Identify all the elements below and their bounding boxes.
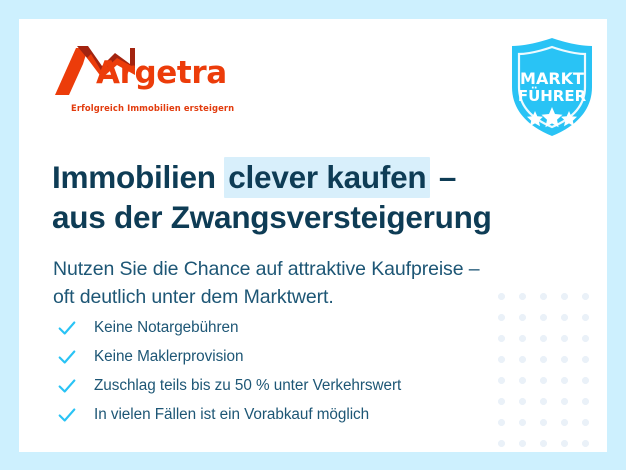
status-badge: MARKT FÜHRER <box>500 35 604 139</box>
check-icon <box>56 375 78 397</box>
benefit-label: Keine Maklerprovision <box>94 349 243 364</box>
list-item: Keine Maklerprovision <box>56 342 526 371</box>
benefit-label: In vielen Fällen ist ein Vorabkauf mögli… <box>94 407 369 422</box>
page-title: Immobilien clever kaufen – aus der Zwang… <box>52 158 572 237</box>
logo-tagline: Erfolgreich Immobilien ersteigern <box>71 103 234 113</box>
headline-line-1: Immobilien clever kaufen – <box>52 158 572 198</box>
brand-logo[interactable]: Argetra Erfolgreich Immobilien ersteiger… <box>55 42 285 98</box>
shield-icon: MARKT FÜHRER <box>500 35 604 139</box>
headline-suffix: – <box>430 159 456 195</box>
subtitle-line-2: oft deutlich unter dem Marktwert. <box>53 283 583 312</box>
list-item: In vielen Fällen ist ein Vorabkauf mögli… <box>56 400 526 429</box>
benefits-list: Keine Notargebühren Keine Maklerprovisio… <box>56 313 526 429</box>
banner-card: Argetra Erfolgreich Immobilien ersteiger… <box>19 19 607 452</box>
check-icon <box>56 404 78 426</box>
badge-line-1: MARKT <box>520 69 584 88</box>
list-item: Keine Notargebühren <box>56 313 526 342</box>
benefit-label: Keine Notargebühren <box>94 320 238 335</box>
headline-line-2: aus der Zwangsversteigerung <box>52 198 572 238</box>
promo-banner: Argetra Erfolgreich Immobilien ersteiger… <box>0 0 626 470</box>
subtitle: Nutzen Sie die Chance auf attraktive Kau… <box>53 255 583 313</box>
check-icon <box>56 346 78 368</box>
badge-line-2: FÜHRER <box>518 86 587 105</box>
list-item: Zuschlag teils bis zu 50 % unter Verkehr… <box>56 371 526 400</box>
headline-prefix: Immobilien <box>52 159 224 195</box>
logo-mark-row: Argetra <box>55 42 285 98</box>
subtitle-line-1: Nutzen Sie die Chance auf attraktive Kau… <box>53 255 583 284</box>
headline-highlight: clever kaufen <box>224 157 430 198</box>
benefit-label: Zuschlag teils bis zu 50 % unter Verkehr… <box>94 378 401 393</box>
check-icon <box>56 317 78 339</box>
logo-wordmark: Argetra <box>96 58 227 89</box>
